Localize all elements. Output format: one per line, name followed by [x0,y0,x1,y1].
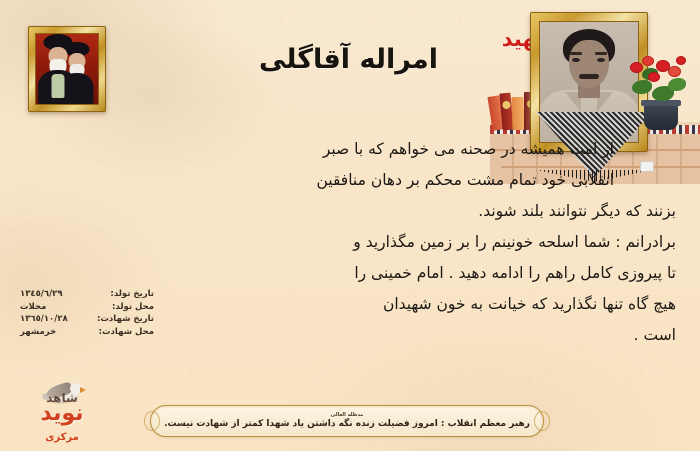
logo-word-navid: نوید [14,397,110,431]
info-label-birth-place: محل تولد: [92,301,154,314]
banner-flourish-right [534,411,550,431]
leaf-shape [632,80,652,94]
banner-quote-text: رهبر معظم انقلاب : امروز فضیلت زنده نگه … [164,419,530,430]
testament-line: بزنند که دیگر نتوانند بلند شوند. [176,196,676,227]
bloom-shape [668,66,681,77]
gold-frame [28,26,106,112]
bloom-shape [642,56,654,66]
bloom-shape [676,56,686,65]
face-shape [569,40,609,88]
table-row: محل تولد: محلات [14,301,154,314]
banner-superscript: مدظله العالی [331,412,364,418]
info-table: تاریخ تولد: ١٣٤٥/٦/٢٩ محل تولد: محلات تا… [14,288,154,338]
logo-subtitle: مرکزی [16,432,108,443]
eyebrow-left [570,52,582,55]
martyr-info-panel: تاریخ تولد: ١٣٤٥/٦/٢٩ محل تولد: محلات تا… [14,288,154,338]
geranium-flowers-icon [628,54,690,104]
leaders-portrait-frame [28,26,106,112]
cleric-khamenei-figure [38,34,78,104]
page-title: امراله آقاگلی [259,44,438,75]
eye-left [572,58,580,62]
leaders-portrait-icon [36,34,98,104]
leader-quote-banner: مدظله العالی رهبر معظم انقلاب : امروز فض… [150,405,544,437]
info-value-birth-date: ١٣٤٥/٦/٢٩ [14,288,92,301]
testament-line: برادرانم : شما اسلحه خونینم را بر زمین م… [176,227,676,258]
leaf-shape [668,78,686,91]
martyr-memorial-card: شهید امراله آقاگلی [0,0,700,451]
gold-frame-inner [35,33,99,105]
eyebrow-right [595,52,607,55]
testament-line: است . [176,320,676,351]
testament-text: از امت همیشه در صحنه می خواهم که با صبر … [176,134,676,351]
testament-line: تا پیروزی کامل راهم را ادامه دهید . امام… [176,258,676,289]
book-medallion [502,101,511,110]
table-row: محل شهادت: خرمشهر [14,326,154,339]
sash-shape [52,74,65,98]
moustache-shape [579,74,599,79]
info-value-martyrdom-date: ١٣٦٥/١٠/٢٨ [14,313,92,326]
book-shape [511,97,524,130]
testament-line: انقلابی خود تمام مشت محکم بر دهان منافقی… [176,165,614,196]
flower-pot-icon [644,104,678,130]
testament-line: هیچ گاه تنها نگذارید که خیانت به خون شهی… [176,289,676,320]
banner-flourish-left [144,411,160,431]
info-value-martyrdom-place: خرمشهر [14,326,92,339]
info-label-martyrdom-date: تاریخ شهادت: [92,313,154,326]
info-label-martyrdom-place: محل شهادت: [92,326,154,339]
bloom-shape [630,62,643,73]
bloom-shape [648,72,660,82]
table-row: تاریخ تولد: ١٣٤٥/٦/٢٩ [14,288,154,301]
info-label-birth-date: تاریخ تولد: [92,288,154,301]
navid-shahed-logo[interactable]: شاهد نوید مرکزی [8,379,112,445]
testament-line: از امت همیشه در صحنه می خواهم که با صبر [176,134,614,165]
eye-right [597,58,605,62]
table-row: تاریخ شهادت: ١٣٦٥/١٠/٢٨ [14,313,154,326]
info-value-birth-place: محلات [14,301,92,314]
